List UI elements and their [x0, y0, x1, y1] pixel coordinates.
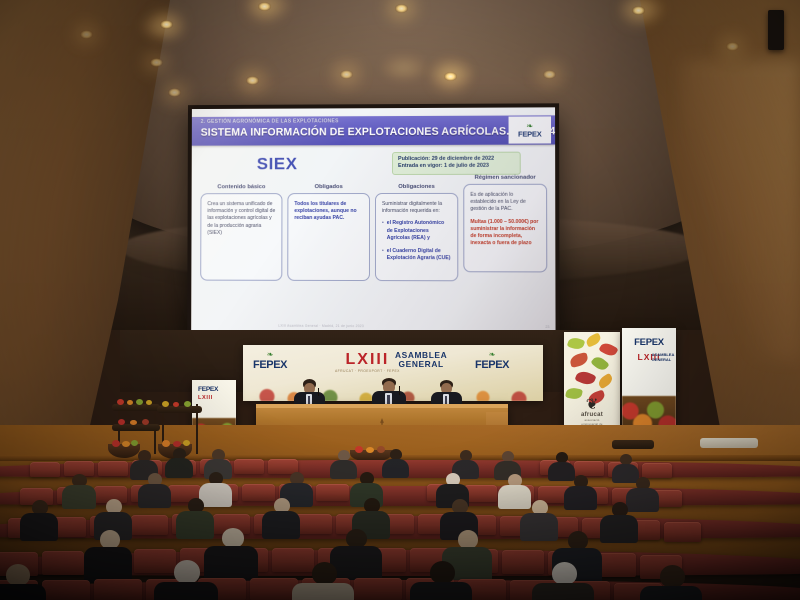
- ceiling-downlight: [168, 88, 181, 97]
- leaf-icon: ❧: [267, 351, 274, 359]
- microphone-left: [318, 388, 319, 396]
- entry-force-line: Entrada en vigor: 1 de julio de 2023: [398, 163, 515, 171]
- entry-force-value: 1 de julio de 2023: [444, 163, 489, 169]
- side-table-right: [700, 438, 758, 448]
- ceiling-downlight: [726, 42, 739, 51]
- table-top-edge: [256, 404, 508, 408]
- fepex-wordmark: FEPEX: [198, 386, 218, 393]
- bullet-dot-icon: •: [382, 248, 384, 262]
- assembly-label: ASAMBLEA GENERAL: [652, 353, 675, 362]
- fepex-wordmark: FEPEX: [518, 129, 542, 138]
- column-paragraph: Es de aplicación lo establecido en la Le…: [470, 192, 540, 214]
- afrucat-mark-icon: ❦: [578, 398, 606, 412]
- fepex-logo-slide: ❧ FEPEX: [509, 116, 552, 143]
- slide-main-title: SIEX: [257, 154, 298, 174]
- audience-seating: [0, 452, 800, 600]
- ceiling-downlight: [150, 58, 163, 67]
- banner-sponsor-note: AFRUCAT · PROEXPORT · FEPEX: [335, 369, 400, 373]
- publication-date-box: Publicación: 29 de diciembre de 2022 Ent…: [392, 152, 521, 175]
- roman-numeral: LXIII: [198, 395, 213, 401]
- column-paragraph-penalty: Multas (1.000 – 50.000€) por suministrar…: [470, 219, 540, 248]
- ceiling-downlight: [444, 72, 457, 81]
- roman-numeral: LXIII: [346, 351, 390, 369]
- assembly-line-2: GENERAL: [652, 358, 675, 363]
- auditorium-photo: 2. GESTIÓN AGRONÓMICA DE LAS EXPLOTACION…: [0, 0, 800, 600]
- column-heading: Contenido básico: [217, 184, 265, 190]
- wall-speaker-right: [768, 10, 784, 50]
- ceiling-downlight: [395, 4, 408, 13]
- column-body: Crea un sistema unificado de información…: [200, 193, 282, 281]
- ceiling-downlight: [340, 70, 353, 79]
- fepex-wordmark: FEPEX: [634, 337, 664, 348]
- banner-roman-numeral-block: LXIII AFRUCAT · PROEXPORT · FEPEX: [335, 351, 400, 373]
- slide-column-obligaciones: Obligaciones Suministrar digitalmente la…: [375, 184, 458, 281]
- column-paragraph: Crea un sistema unificado de información…: [207, 201, 275, 237]
- publication-label: Publicación:: [398, 156, 430, 162]
- slide-header-kicker: 2. GESTIÓN AGRONÓMICA DE LAS EXPLOTACION…: [201, 118, 339, 125]
- column-heading: Obligaciones: [398, 184, 435, 190]
- leaf-icon: ❧: [526, 122, 533, 129]
- floor-tray-right: [612, 440, 654, 449]
- assembly-line-2: GENERAL: [399, 360, 444, 369]
- column-body: Es de aplicación lo establecido en la Le…: [463, 184, 547, 273]
- slide-header-title: SISTEMA INFORMACIÓN DE EXPLOTACIONES AGR…: [201, 125, 556, 138]
- entry-force-label: Entrada en vigor:: [398, 163, 442, 169]
- column-bullet: • el Cuaderno Digital de Explotación Agr…: [382, 248, 451, 263]
- slide-column-contenido: Contenido básico Crea un sistema unifica…: [200, 184, 282, 281]
- column-heading: Obligados: [315, 184, 343, 190]
- microphone-center: [399, 386, 400, 395]
- ceiling-downlight: [246, 76, 259, 85]
- column-body: Todos los titulares de explotaciones, au…: [287, 193, 370, 281]
- column-heading: Régimen sancionador: [475, 175, 536, 181]
- slide-column-obligados: Obligados Todos los titulares de explota…: [287, 184, 370, 281]
- slide-footer: LXIII Asamblea General · Madrid, 21 de j…: [278, 324, 364, 328]
- ceiling-downlight: [160, 20, 173, 29]
- banner-assembly-title: ASAMBLEA GENERAL: [395, 351, 447, 370]
- projection-screen: 2. GESTIÓN AGRONÓMICA DE LAS EXPLOTACION…: [191, 107, 555, 333]
- fepex-wordmark: FEPEX: [475, 359, 509, 371]
- bullet-text: el Cuaderno Digital de Explotación Agrar…: [387, 248, 451, 263]
- ceiling-downlight: [632, 6, 645, 15]
- column-body: Suministrar digitalmente la información …: [375, 193, 458, 281]
- wall-right-light-wash: [680, 60, 800, 360]
- projection-screen-frame: 2. GESTIÓN AGRONÓMICA DE LAS EXPLOTACION…: [187, 103, 559, 337]
- banner-fepex-left: ❧ FEPEX: [253, 351, 287, 371]
- column-paragraph: Todos los titulares de explotaciones, au…: [294, 201, 363, 223]
- bullet-dot-icon: •: [382, 220, 384, 242]
- column-bullet: • el Registro Autonómico de Explotacione…: [382, 220, 451, 242]
- ceiling-downlight: [543, 70, 556, 79]
- leaf-icon: ❧: [489, 351, 496, 359]
- slide-columns: Contenido básico Crea un sistema unifica…: [200, 184, 547, 282]
- column-paragraph: Suministrar digitalmente la información …: [382, 201, 451, 215]
- slide-column-regimen: Régimen sancionador Es de aplicación lo …: [463, 184, 547, 282]
- fepex-wordmark: FEPEX: [253, 359, 287, 371]
- banner-fepex-right: ❧ FEPEX: [475, 351, 509, 371]
- publication-value: 29 de diciembre de 2022: [432, 156, 494, 162]
- slide-page-number: 23: [545, 325, 549, 329]
- bullet-text: el Registro Autonómico de Explotaciones …: [387, 220, 451, 242]
- ceiling-downlight: [80, 30, 93, 39]
- ceiling-downlight: [258, 2, 271, 11]
- slide-header-band: 2. GESTIÓN AGRONÓMICA DE LAS EXPLOTACION…: [192, 115, 555, 145]
- presentation-slide: 2. GESTIÓN AGRONÓMICA DE LAS EXPLOTACION…: [191, 107, 555, 333]
